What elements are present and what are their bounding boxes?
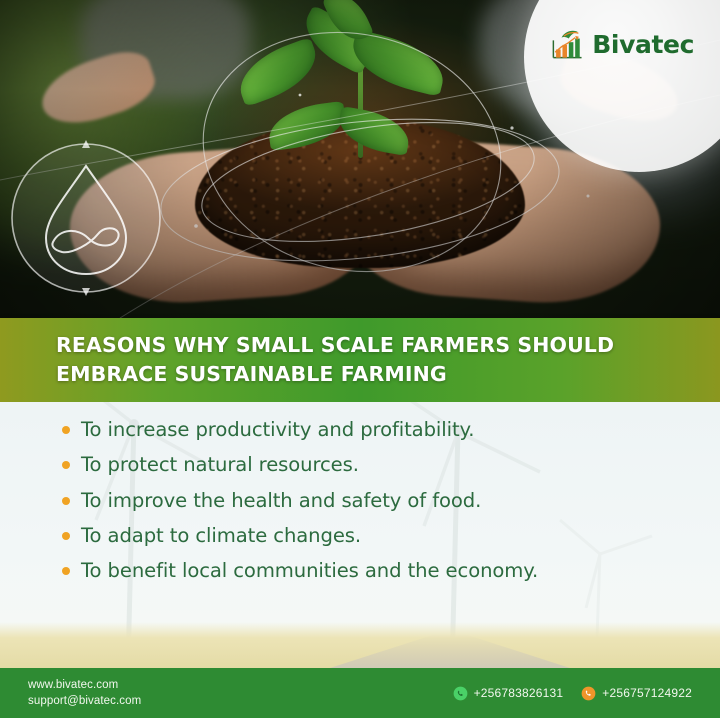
- list-item: To protect natural resources.: [62, 451, 538, 479]
- footer-phone-block: +256783826131 +256757124922: [453, 686, 704, 701]
- bullet-dot-icon: [62, 426, 70, 434]
- reasons-list: To increase productivity and profitabili…: [62, 416, 538, 593]
- bullet-dot-icon: [62, 567, 70, 575]
- bullet-dot-icon: [62, 461, 70, 469]
- hero-image: Bivatec: [0, 0, 720, 318]
- title-line-1: REASONS WHY SMALL SCALE FARMERS SHOULD: [56, 331, 614, 360]
- page-title: REASONS WHY SMALL SCALE FARMERS SHOULD E…: [0, 331, 644, 389]
- list-item: To increase productivity and profitabili…: [62, 416, 538, 444]
- list-item-label: To improve the health and safety of food…: [81, 487, 481, 515]
- phone-number: +256757124922: [602, 686, 692, 700]
- website-link[interactable]: www.bivatec.com: [28, 677, 141, 693]
- list-item: To improve the health and safety of food…: [62, 487, 538, 515]
- list-item: To benefit local communities and the eco…: [62, 557, 538, 585]
- bullet-dot-icon: [62, 497, 70, 505]
- title-banner: REASONS WHY SMALL SCALE FARMERS SHOULD E…: [0, 318, 720, 402]
- brand-name: Bivatec: [592, 32, 694, 57]
- phone-contact[interactable]: +256757124922: [581, 686, 692, 701]
- list-item-label: To benefit local communities and the eco…: [81, 557, 538, 585]
- bullet-dot-icon: [62, 532, 70, 540]
- footer-bar: www.bivatec.com support@bivatec.com +256…: [0, 668, 720, 718]
- list-item-label: To increase productivity and profitabili…: [81, 416, 474, 444]
- title-line-2: EMBRACE SUSTAINABLE FARMING: [56, 360, 614, 389]
- bar-chart-leaf-logo-icon: [547, 24, 587, 64]
- whatsapp-icon: [453, 686, 468, 701]
- email-link[interactable]: support@bivatec.com: [28, 693, 141, 709]
- list-item: To adapt to climate changes.: [62, 522, 538, 550]
- water-droplet-infinity-icon: [6, 138, 166, 298]
- whatsapp-number: +256783826131: [474, 686, 564, 700]
- brand-logo[interactable]: Bivatec: [547, 24, 694, 64]
- list-item-label: To adapt to climate changes.: [81, 522, 361, 550]
- phone-icon: [581, 686, 596, 701]
- poster: Bivatec REASONS WHY SMALL SCALE FARMERS …: [0, 0, 720, 718]
- footer-contact-block: www.bivatec.com support@bivatec.com: [28, 677, 141, 710]
- whatsapp-contact[interactable]: +256783826131: [453, 686, 564, 701]
- content-area: To increase productivity and profitabili…: [0, 402, 720, 668]
- list-item-label: To protect natural resources.: [81, 451, 359, 479]
